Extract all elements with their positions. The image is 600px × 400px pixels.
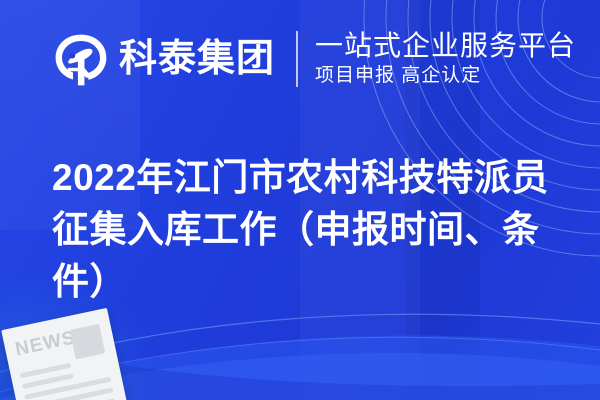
promo-banner: 科泰集团 一站式企业服务平台 项目申报 高企认定 2022年江门市农村科技特派员… [0,0,600,400]
header-divider [296,31,298,87]
tagline-secondary: 项目申报 高企认定 [315,64,576,88]
banner-header: 科泰集团 一站式企业服务平台 项目申报 高企认定 [0,0,600,118]
ketai-circular-logo-icon [52,31,110,89]
banner-title: 2022年江门市农村科技特派员征集入库工作（申报时间、条件） [52,152,562,308]
newspaper-thumbnail [70,324,106,360]
tagline-group: 一站式企业服务平台 项目申报 高企认定 [315,30,576,87]
logo-wordmark: 科泰集团 [119,40,275,78]
tagline-primary: 一站式企业服务平台 [315,30,576,61]
